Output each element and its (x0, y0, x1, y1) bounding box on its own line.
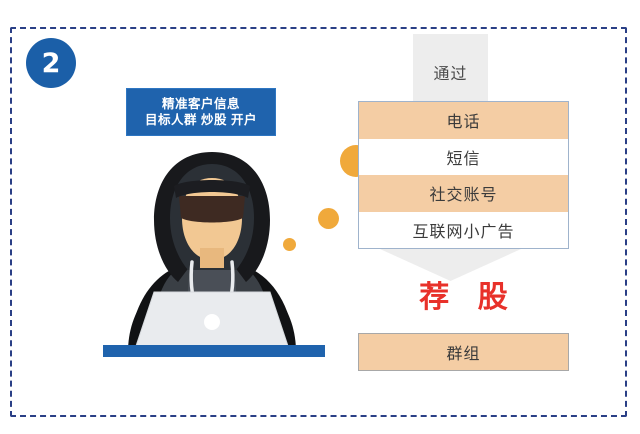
desk-bar (103, 345, 325, 357)
channel-row-sms: 短信 (359, 139, 568, 176)
step-number-label: 2 (42, 50, 61, 77)
infographic-canvas: 2 精准客户信息 目标人群 炒股 开户 (0, 0, 640, 434)
result-headline: 荐 股 (358, 272, 569, 316)
channel-row-social: 社交账号 (359, 175, 568, 212)
callout-line-1: 精准客户信息 (162, 97, 240, 111)
orange-dot-medium-icon (318, 208, 339, 229)
target-info-callout: 精准客户信息 目标人群 炒股 开户 (126, 88, 276, 136)
channel-list: 电话 短信 社交账号 互联网小广告 (358, 101, 569, 249)
callout-line-2: 目标人群 炒股 开户 (145, 113, 257, 127)
through-label: 通过 (413, 60, 488, 84)
hooded-hacker-icon (112, 140, 312, 360)
channel-row-phone: 电话 (359, 102, 568, 139)
orange-dot-small-icon (283, 238, 296, 251)
step-number-badge: 2 (26, 38, 76, 88)
group-box: 群组 (358, 333, 569, 371)
channel-row-webad: 互联网小广告 (359, 212, 568, 249)
